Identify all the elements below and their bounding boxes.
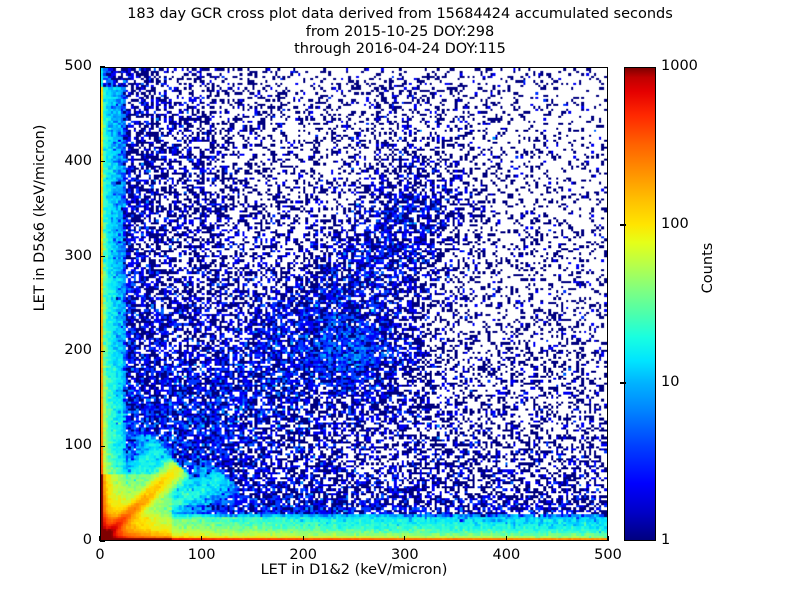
colorbar-tick-label: 1000 xyxy=(661,58,698,74)
y-tick-mark xyxy=(100,351,105,352)
colorbar-label: Counts xyxy=(700,168,716,368)
density-scatter-plot xyxy=(101,68,607,540)
x-axis-label: LET in D1&2 (keV/micron) xyxy=(100,562,608,578)
title-line-2: from 2015-10-25 DOY:298 xyxy=(0,24,800,42)
y-tick-label: 100 xyxy=(32,437,92,453)
colorbar-tick-label: 100 xyxy=(661,216,689,232)
y-tick-mark xyxy=(100,446,105,447)
y-tick-label: 0 xyxy=(32,532,92,548)
figure-canvas: 183 day GCR cross plot data derived from… xyxy=(0,0,800,600)
title-line-1: 183 day GCR cross plot data derived from… xyxy=(0,6,800,24)
y-tick-mark xyxy=(100,540,105,541)
x-tick-label: 300 xyxy=(375,547,435,563)
colorbar-tick-mark xyxy=(620,224,626,225)
x-tick-label: 200 xyxy=(273,547,333,563)
x-tick-mark xyxy=(404,536,405,541)
x-tick-mark xyxy=(607,536,608,541)
colorbar-tick-label: 1 xyxy=(661,532,670,548)
colorbar-tick-mark xyxy=(620,382,626,383)
colorbar-container: 1101001000 xyxy=(624,67,656,541)
x-tick-label: 0 xyxy=(70,547,130,563)
colorbar-gradient xyxy=(624,67,656,541)
title-line-3: through 2016-04-24 DOY:115 xyxy=(0,41,800,59)
colorbar-tick-label: 10 xyxy=(661,374,679,390)
x-tick-mark xyxy=(303,536,304,541)
x-tick-label: 100 xyxy=(172,547,232,563)
plot-title: 183 day GCR cross plot data derived from… xyxy=(0,6,800,59)
y-tick-mark xyxy=(100,161,105,162)
y-tick-label: 200 xyxy=(32,342,92,358)
y-axis-label: LET in D5&6 (keV/micron) xyxy=(32,118,48,318)
y-tick-mark xyxy=(100,256,105,257)
x-tick-label: 400 xyxy=(476,547,536,563)
y-tick-mark xyxy=(100,66,105,67)
x-tick-mark xyxy=(506,536,507,541)
plot-axes xyxy=(100,67,608,541)
y-tick-label: 500 xyxy=(32,58,92,74)
x-tick-mark xyxy=(201,536,202,541)
x-tick-label: 500 xyxy=(578,547,638,563)
